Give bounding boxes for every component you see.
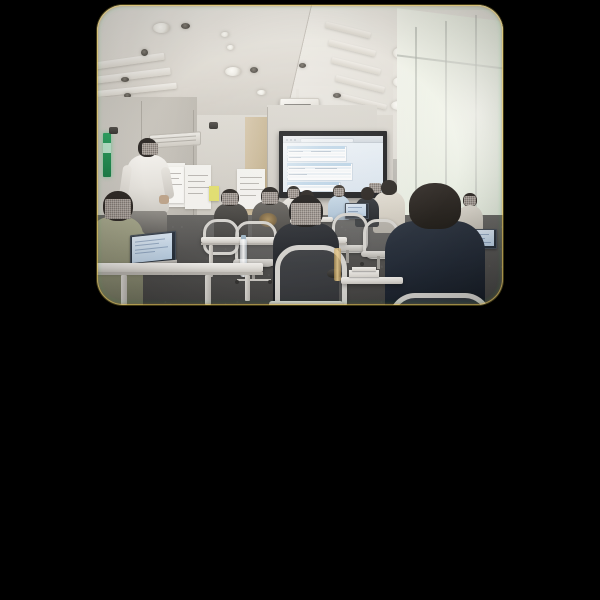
laptop-content-line — [348, 211, 358, 212]
chair-seat[interactable] — [269, 301, 343, 305]
desk-leg — [205, 275, 211, 305]
chair-base — [237, 279, 271, 282]
photo-frame — [97, 5, 503, 305]
sticky-note — [209, 186, 219, 201]
screenshot-canvas — [0, 0, 600, 600]
exit-sign-glyph — [103, 143, 111, 153]
drink-bottle — [334, 248, 341, 281]
notebook[interactable] — [352, 267, 376, 271]
desk — [97, 263, 263, 272]
whiteboard-line — [188, 181, 205, 182]
exit-sign-icon — [103, 133, 111, 177]
chair-post — [377, 256, 380, 269]
downlight — [299, 63, 306, 68]
chair-caster — [360, 262, 364, 266]
person-head — [381, 180, 397, 195]
face-pixelated — [262, 192, 278, 204]
downlight — [221, 32, 229, 37]
person-head — [361, 187, 374, 200]
face-pixelated — [142, 143, 158, 155]
face-pixelated — [464, 196, 476, 205]
downlight — [333, 93, 341, 98]
chair[interactable] — [389, 293, 491, 305]
face-pixelated — [222, 193, 238, 205]
downlight — [141, 49, 148, 56]
wall-speaker — [109, 127, 118, 134]
downlight — [225, 67, 241, 76]
face-pixelated — [105, 199, 131, 219]
desk-leg — [245, 275, 250, 301]
whiteboard-line — [188, 193, 203, 194]
screen-sheen — [283, 136, 383, 192]
downlight — [257, 90, 266, 95]
downlight — [153, 23, 170, 33]
notebook[interactable] — [349, 270, 379, 277]
downlight — [121, 77, 129, 82]
whiteboard-line — [240, 195, 256, 196]
downlight — [227, 45, 234, 50]
person-hand — [159, 195, 169, 204]
person-head — [409, 183, 461, 229]
whiteboard-line — [188, 187, 209, 188]
chair-caster — [235, 280, 239, 284]
whiteboard-line — [240, 189, 263, 190]
face-pixelated — [334, 188, 344, 196]
chair-caster — [268, 280, 272, 284]
face-pixelated — [291, 203, 321, 225]
chair-post — [346, 250, 349, 263]
wall-speaker — [209, 122, 218, 129]
downlight — [250, 67, 258, 73]
whiteboard-line — [240, 177, 262, 178]
desk — [341, 277, 403, 284]
whiteboard-line — [240, 183, 259, 184]
whiteboard-line — [188, 175, 208, 176]
desk-leg — [121, 275, 127, 305]
downlight — [181, 23, 190, 29]
laptop-content-line — [348, 207, 362, 208]
